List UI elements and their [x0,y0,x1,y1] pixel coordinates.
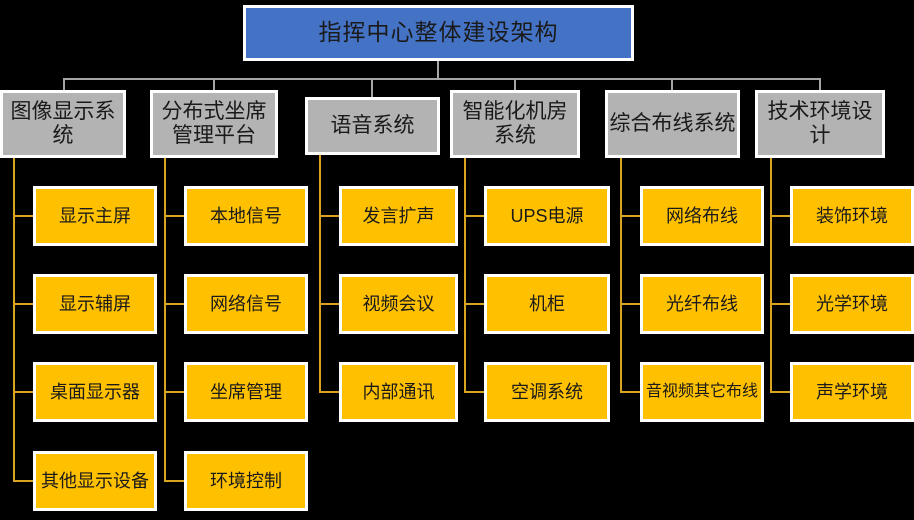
connector-branch-2-1 [164,215,184,217]
category-box-2[interactable]: 分布式坐席管理平台 [150,90,278,158]
connector-branch-5-1 [620,215,640,217]
connector-spine-column-1 [13,158,15,482]
connector-branch-5-2 [620,303,640,305]
connector-drop-category-1 [63,78,65,90]
connector-spine-column-4 [464,158,466,393]
leaf-label-3-1: 发言扩声 [363,206,435,226]
category-label-3: 语音系统 [331,114,415,138]
leaf-box-3-2[interactable]: 视频会议 [339,274,458,334]
connector-branch-1-1 [13,215,33,217]
connector-branch-3-2 [319,303,339,305]
connector-branch-1-3 [13,391,33,393]
diagram-title-text: 指挥中心整体建设架构 [319,20,559,46]
connector-branch-4-1 [464,215,484,217]
leaf-box-6-1[interactable]: 装饰环境 [790,186,914,246]
category-label-2: 分布式坐席管理平台 [153,100,275,147]
leaf-box-4-2[interactable]: 机柜 [484,274,610,334]
diagram-canvas: 指挥中心整体建设架构 图像显示系统 分布式坐席管理平台 语音系统 智能化机房系统… [0,0,914,520]
category-box-4[interactable]: 智能化机房系统 [450,90,580,158]
leaf-box-2-4[interactable]: 环境控制 [184,451,308,511]
leaf-box-1-3[interactable]: 桌面显示器 [33,362,157,422]
leaf-label-1-1: 显示主屏 [59,206,131,226]
leaf-box-5-1[interactable]: 网络布线 [640,186,764,246]
leaf-label-2-4: 环境控制 [210,471,282,491]
category-box-1[interactable]: 图像显示系统 [0,90,126,158]
leaf-label-1-4: 其他显示设备 [41,471,149,491]
leaf-label-5-3: 音视频其它布线 [646,383,758,401]
leaf-label-4-2: 机柜 [529,294,565,314]
leaf-box-2-1[interactable]: 本地信号 [184,186,308,246]
leaf-box-1-2[interactable]: 显示辅屏 [33,274,157,334]
leaf-box-5-2[interactable]: 光纤布线 [640,274,764,334]
leaf-label-6-2: 光学环境 [816,294,888,314]
connector-branch-3-3 [319,391,339,393]
connector-spine-column-6 [770,158,772,393]
leaf-label-1-2: 显示辅屏 [59,294,131,314]
connector-branch-2-4 [164,480,184,482]
connector-spine-column-2 [164,158,166,482]
leaf-box-1-4[interactable]: 其他显示设备 [33,451,157,511]
connector-branch-2-3 [164,391,184,393]
leaf-label-2-1: 本地信号 [210,206,282,226]
connector-spine-column-3 [319,155,321,393]
category-label-6: 技术环境设计 [758,100,882,147]
leaf-label-4-1: UPS电源 [510,206,583,226]
category-label-5: 综合布线系统 [610,112,736,136]
leaf-label-2-3: 坐席管理 [210,382,282,402]
leaf-label-5-1: 网络布线 [666,206,738,226]
connector-title-stem [437,61,439,79]
leaf-box-2-3[interactable]: 坐席管理 [184,362,308,422]
connector-branch-6-2 [770,303,790,305]
leaf-box-2-2[interactable]: 网络信号 [184,274,308,334]
leaf-label-5-2: 光纤布线 [666,294,738,314]
connector-drop-category-5 [671,78,673,90]
leaf-label-1-3: 桌面显示器 [50,382,140,402]
connector-drop-category-3 [371,78,373,97]
connector-branch-1-4 [13,480,33,482]
category-box-3[interactable]: 语音系统 [305,97,440,155]
connector-branch-4-3 [464,391,484,393]
leaf-label-4-3: 空调系统 [511,382,583,402]
category-label-1: 图像显示系统 [3,100,123,147]
leaf-label-2-2: 网络信号 [210,294,282,314]
connector-drop-category-2 [213,78,215,90]
connector-branch-6-1 [770,215,790,217]
category-label-4: 智能化机房系统 [453,100,577,147]
leaf-label-3-3: 内部通讯 [363,382,435,402]
connector-branch-5-3 [620,391,640,393]
leaf-box-4-3[interactable]: 空调系统 [484,362,610,422]
leaf-box-1-1[interactable]: 显示主屏 [33,186,157,246]
connector-branch-4-2 [464,303,484,305]
leaf-box-3-1[interactable]: 发言扩声 [339,186,458,246]
connector-title-bus [63,78,821,80]
connector-branch-1-2 [13,303,33,305]
leaf-box-6-3[interactable]: 声学环境 [790,362,914,422]
leaf-label-6-3: 声学环境 [816,382,888,402]
leaf-box-5-3[interactable]: 音视频其它布线 [640,362,764,422]
leaf-label-3-2: 视频会议 [363,294,435,314]
category-box-6[interactable]: 技术环境设计 [755,90,885,158]
connector-drop-category-4 [514,78,516,90]
leaf-box-3-3[interactable]: 内部通讯 [339,362,458,422]
leaf-box-4-1[interactable]: UPS电源 [484,186,610,246]
leaf-label-6-1: 装饰环境 [816,206,888,226]
leaf-box-6-2[interactable]: 光学环境 [790,274,914,334]
connector-drop-category-6 [819,78,821,90]
connector-spine-column-5 [620,158,622,393]
connector-branch-6-3 [770,391,790,393]
diagram-title-box: 指挥中心整体建设架构 [243,5,634,61]
connector-branch-3-1 [319,215,339,217]
connector-branch-2-2 [164,303,184,305]
category-box-5[interactable]: 综合布线系统 [605,90,740,158]
